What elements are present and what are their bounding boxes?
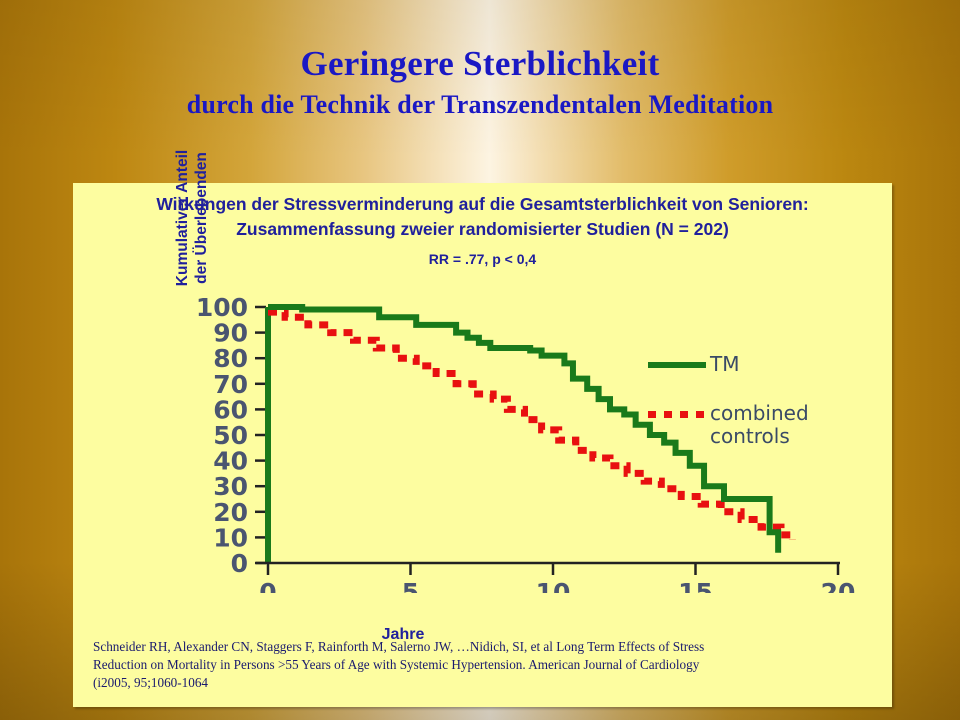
- svg-text:100: 100: [196, 293, 248, 322]
- y-axis-ticks: 0102030405060708090100: [196, 293, 266, 578]
- citation-text: Schneider RH, Alexander CN, Staggers F, …: [93, 638, 883, 692]
- title-line-1: Geringere Sterblichkeit: [0, 44, 960, 84]
- svg-text:5: 5: [402, 578, 419, 593]
- legend-key-dotted-line-icon: [648, 402, 710, 418]
- citation-line-2: Reduction on Mortality in Persons >55 Ye…: [93, 656, 883, 674]
- svg-text:70: 70: [213, 370, 248, 399]
- svg-text:30: 30: [213, 472, 248, 501]
- slide-canvas: Geringere Sterblichkeit durch die Techni…: [0, 0, 960, 720]
- svg-text:0: 0: [231, 549, 248, 578]
- legend-item-tm: TM: [648, 353, 809, 376]
- chart-legend: TM combined controls: [648, 353, 809, 474]
- citation-line-1: Schneider RH, Alexander CN, Staggers F, …: [93, 638, 883, 656]
- svg-text:0: 0: [259, 578, 276, 593]
- svg-text:20: 20: [213, 498, 248, 527]
- legend-label-tm: TM: [710, 353, 739, 376]
- svg-text:40: 40: [213, 447, 248, 476]
- legend-label-controls-line-2: controls: [710, 425, 809, 448]
- svg-text:15: 15: [678, 578, 713, 593]
- x-axis-ticks: 05101520: [259, 563, 855, 593]
- svg-text:10: 10: [536, 578, 571, 593]
- svg-text:50: 50: [213, 421, 248, 450]
- svg-text:20: 20: [821, 578, 856, 593]
- title-line-2: durch die Technik der Transzendentalen M…: [0, 88, 960, 122]
- legend-label-controls-line-1: combined: [710, 402, 809, 425]
- legend-item-controls: combined controls: [648, 402, 809, 448]
- legend-label-controls: combined controls: [710, 402, 809, 448]
- svg-text:10: 10: [213, 523, 248, 552]
- citation-line-3: (i2005, 95;1060-1064: [93, 674, 883, 692]
- y-axis-label-line-1: Kumulativer Anteil: [173, 118, 192, 318]
- slide-title: Geringere Sterblichkeit durch die Techni…: [0, 44, 960, 122]
- svg-text:60: 60: [213, 395, 248, 424]
- y-axis-label: Kumulativer Anteil der Überlebenden: [173, 118, 199, 318]
- svg-text:80: 80: [213, 344, 248, 373]
- y-axis-label-line-2: der Überlebenden: [192, 118, 211, 318]
- legend-key-solid-line-icon: [648, 353, 710, 368]
- svg-text:90: 90: [213, 319, 248, 348]
- chart-panel: Wirkungen der Stressverminderung auf die…: [73, 183, 892, 707]
